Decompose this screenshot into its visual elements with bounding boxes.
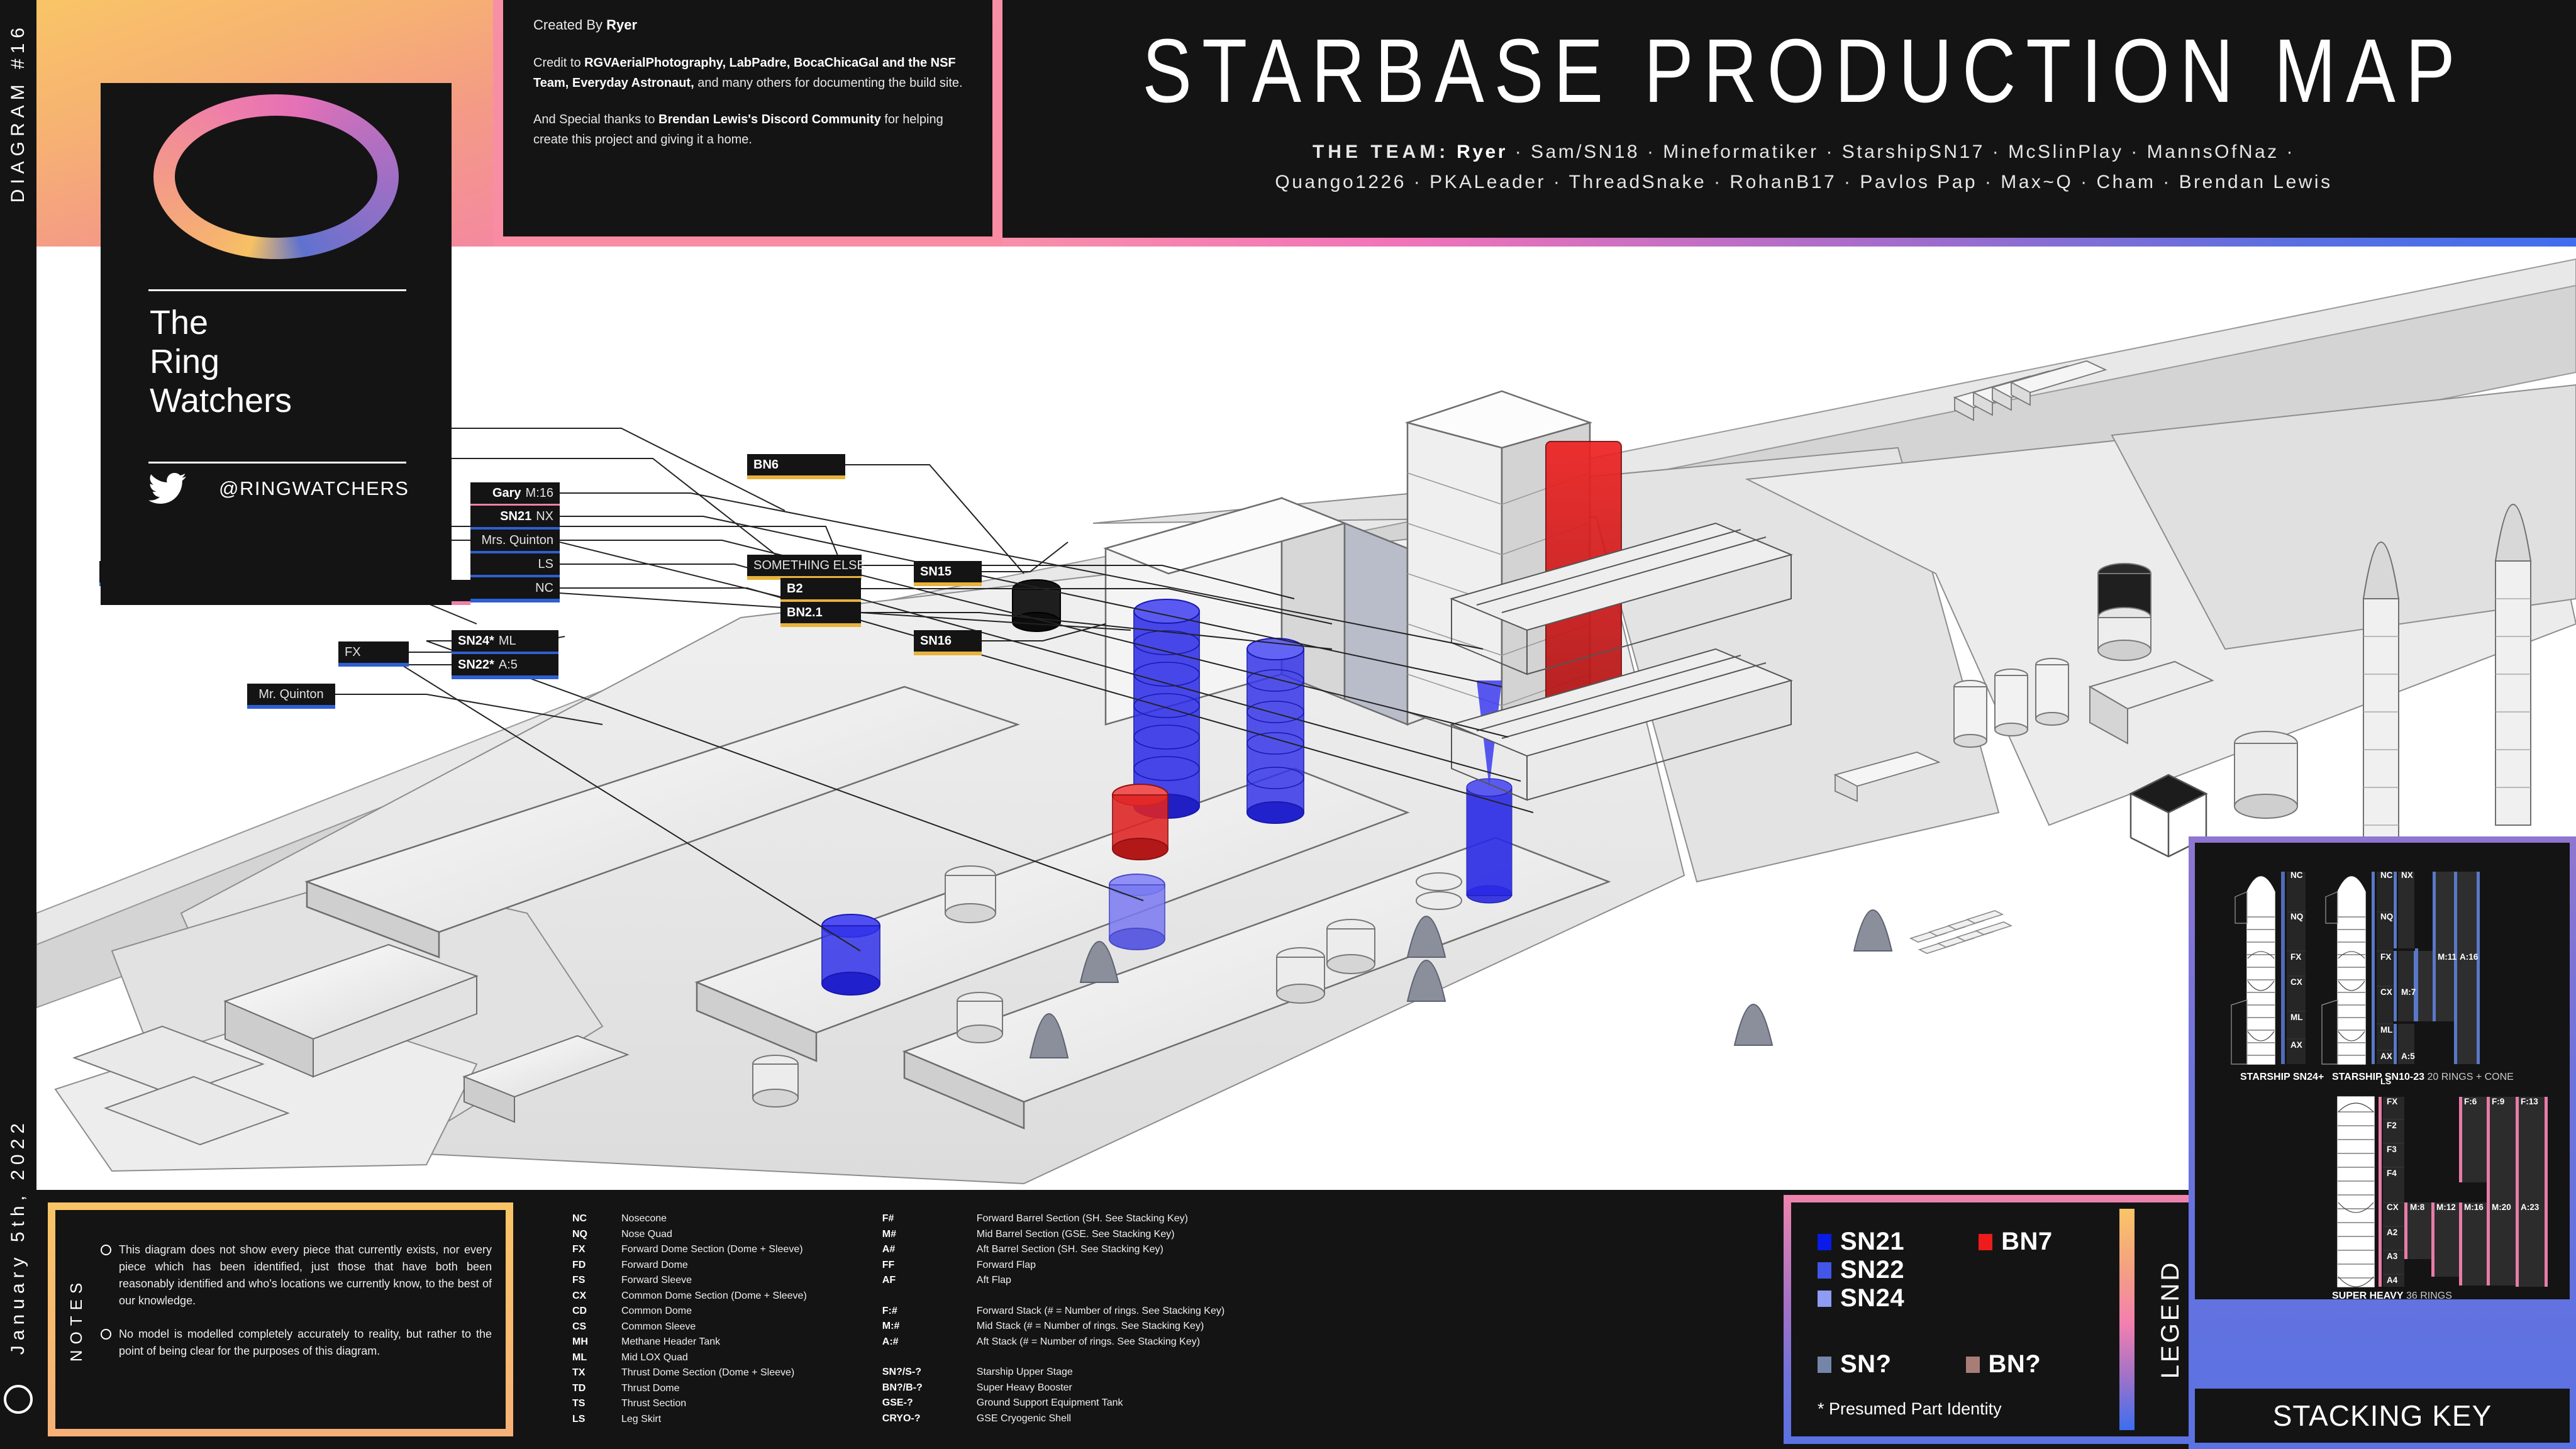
notes-heading: NOTES <box>67 1277 86 1362</box>
abbreviation-row: TXThrust Dome Section (Dome + Sleeve) <box>572 1365 807 1381</box>
abbreviation-key: TS <box>572 1396 621 1412</box>
sk-sh-stack-a23: A:23 <box>2521 1202 2539 1212</box>
abbreviation-value: Thrust Dome <box>621 1381 679 1397</box>
legend-color-swatch <box>1966 1357 1980 1373</box>
legend-outer-frame: SN21SN22SN24 BN7 SN? BN? * Presumed Part… <box>1784 1195 2210 1444</box>
map-callout-sn24-ml[interactable]: SN24*ML <box>452 630 558 652</box>
callout-detail: FX <box>345 646 361 658</box>
brand-name: The Ring Watchers <box>150 303 414 420</box>
abbreviation-key: CRYO-? <box>882 1411 977 1427</box>
sk-sh-seg-cx: CX <box>2387 1202 2399 1212</box>
callout-detail: LS <box>538 558 553 570</box>
legend-column-unknown-booster: BN? <box>1966 1350 2041 1379</box>
abbreviation-key: FD <box>572 1258 621 1274</box>
sk-sn1023-seg-nq: NQ <box>2380 912 2393 921</box>
abbreviation-value: Mid Barrel Section (GSE. See Stacking Ke… <box>977 1227 1175 1243</box>
credit-p2-a: And Special thanks to <box>533 113 658 126</box>
stacking-key-diagrams <box>2195 843 2570 1299</box>
brand-logo-card: The Ring Watchers @RINGWATCHERS <box>101 83 452 605</box>
sk-sh-seg-a4: A4 <box>2387 1275 2397 1285</box>
map-callout-something-else[interactable]: SOMETHING ELSE <box>747 555 862 576</box>
credit-p2-b: Brendan Lewis's Discord Community <box>658 113 881 126</box>
sk-sh-stack-m8: M:8 <box>2410 1202 2424 1212</box>
legend-heading: LEGEND <box>2157 1260 2185 1379</box>
team-credits: THE TEAM: Ryer · Sam/SN18 · Mineformatik… <box>1055 137 2552 197</box>
legend-column-boosters: BN7 <box>1979 1228 2053 1313</box>
legend-label: SN22 <box>1840 1256 1904 1284</box>
callout-detail: ML <box>499 635 516 647</box>
created-by-prefix: Created By <box>533 17 606 33</box>
abbreviation-value: Forward Dome <box>621 1258 688 1274</box>
abbreviation-row: GSE-?Ground Support Equipment Tank <box>882 1396 1224 1411</box>
legend-label: BN? <box>1989 1350 2041 1379</box>
callout-detail: Mrs. Quinton <box>482 534 553 547</box>
sk-sh-stack-m16: M:16 <box>2464 1202 2484 1212</box>
diagram-number-label: DIAGRAM #16 <box>8 23 29 203</box>
callout-detail: A:5 <box>499 658 518 671</box>
sk-sn1023-stack-a5: A:5 <box>2401 1052 2415 1061</box>
sk-caption-sn1023: STARSHIP SN10-23 20 RINGS + CONE <box>2332 1072 2514 1083</box>
note-text: This diagram does not show every piece t… <box>119 1241 492 1309</box>
map-callout-fx-lower[interactable]: FX <box>338 641 409 663</box>
brand-name-line3: Watchers <box>150 381 414 420</box>
sk-sn1023-seg-ax: AX <box>2380 1052 2392 1061</box>
map-callout-ls-right[interactable]: LS <box>470 553 560 575</box>
notes-panel: NOTES This diagram does not show every p… <box>48 1202 513 1436</box>
abbreviation-value: Thrust Section <box>621 1396 686 1412</box>
team-members-row1: · Sam/SN18 · Mineformatiker · StarshipSN… <box>1515 142 2295 162</box>
credit-p1-a: Credit to <box>533 56 584 70</box>
credit-paragraph-1: Credit to RGVAerialPhotography, LabPadre… <box>533 53 974 93</box>
abbreviation-row: A:#Aft Stack (# = Number of rings. See S… <box>882 1335 1224 1350</box>
abbreviation-value: Aft Barrel Section (SH. See Stacking Key… <box>977 1242 1163 1258</box>
callout-detail: SOMETHING ELSE <box>753 559 865 572</box>
abbreviation-row: FSForward Sleeve <box>572 1273 807 1289</box>
map-callout-bn21[interactable]: BN2.1 <box>780 602 861 623</box>
map-callout-bn6[interactable]: BN6 <box>747 454 845 475</box>
abbreviation-key: A:# <box>882 1335 977 1350</box>
abbreviation-key: LS <box>572 1412 621 1428</box>
abbreviation-value: Nose Quad <box>621 1227 672 1243</box>
legend-label: SN? <box>1840 1350 1892 1379</box>
legend-row: SN? <box>1818 1350 1892 1379</box>
sk-sn1023-stack-nx: NX <box>2401 870 2413 880</box>
callout-detail: NX <box>536 510 553 523</box>
abbreviation-key: TD <box>572 1381 621 1397</box>
abbreviation-key: BN?/B-? <box>882 1380 977 1396</box>
map-callout-sn16[interactable]: SN16 <box>914 630 982 652</box>
abbreviation-value: Common Dome Section (Dome + Sleeve) <box>621 1289 807 1304</box>
ring-circle-icon <box>4 1385 33 1414</box>
abbreviation-key: NQ <box>572 1227 621 1243</box>
abbreviation-group-spacer <box>882 1289 1224 1304</box>
abbreviation-row: NCNosecone <box>572 1211 807 1227</box>
sk-caption-superheavy: SUPER HEAVY 36 RINGS <box>2332 1291 2452 1302</box>
abbreviation-row: BN?/B-?Super Heavy Booster <box>882 1380 1224 1396</box>
credit-paragraph-2: And Special thanks to Brendan Lewis's Di… <box>533 109 974 150</box>
abbreviation-value: Forward Barrel Section (SH. See Stacking… <box>977 1211 1188 1227</box>
sk-sh-seg-a3: A3 <box>2387 1252 2397 1261</box>
callout-code: BN6 <box>753 458 779 471</box>
abbreviation-key: M:# <box>882 1319 977 1335</box>
legend-color-swatch <box>1818 1357 1831 1373</box>
callout-code: SN16 <box>920 635 952 647</box>
abbreviation-row: CSCommon Sleeve <box>572 1319 807 1335</box>
callout-code: SN21 <box>500 510 531 523</box>
abbreviation-value: Nosecone <box>621 1211 667 1227</box>
callout-code: SN15 <box>920 565 952 578</box>
abbreviation-row: FDForward Dome <box>572 1258 807 1274</box>
callout-detail: Mr. Quinton <box>258 688 323 701</box>
abbreviation-row: AFAft Flap <box>882 1273 1224 1289</box>
abbreviation-row: CDCommon Dome <box>572 1304 807 1319</box>
page-title: STARBASE PRODUCTION MAP <box>1068 25 2540 117</box>
note-item: No model is modelled completely accurate… <box>101 1326 492 1360</box>
map-callout-mrs-quinton[interactable]: Mrs. Quinton <box>470 530 560 551</box>
sk-sh-stack-f9: F:9 <box>2492 1097 2504 1106</box>
abbreviation-row: NQNose Quad <box>572 1227 807 1243</box>
sk-sn24-seg-nc: NC <box>2290 870 2303 880</box>
callout-code: SN24* <box>458 635 494 647</box>
abbreviation-value: Common Sleeve <box>621 1319 696 1335</box>
sk-sh-seg-f4: F4 <box>2387 1169 2397 1178</box>
logo-divider-top <box>148 289 406 291</box>
stacking-key-frame: NC NQ FX CX ML AX NC NQ FX CX ML AX LS N… <box>2189 836 2576 1449</box>
sk-sn1023-seg-ml: ML <box>2380 1025 2393 1035</box>
abbreviation-value: Aft Flap <box>977 1273 1011 1289</box>
credit-p1-c: and many others for documenting the buil… <box>694 76 963 90</box>
abbreviation-row: M#Mid Barrel Section (GSE. See Stacking … <box>882 1227 1224 1243</box>
abbreviation-row: TSThrust Section <box>572 1396 807 1412</box>
abbreviation-key: FS <box>572 1273 621 1289</box>
legend-color-swatch <box>1818 1291 1831 1307</box>
sk-sn24-seg-ax: AX <box>2290 1040 2302 1050</box>
poster-root: DIAGRAM #16 January 5th, 2022 Created By… <box>0 0 2576 1449</box>
sk-sh-stack-f6: F:6 <box>2464 1097 2477 1106</box>
abbreviation-row: LSLeg Skirt <box>572 1412 807 1428</box>
abbreviation-row: MLMid LOX Quad <box>572 1350 807 1366</box>
legend-row: SN21 <box>1818 1228 1904 1256</box>
left-rail: DIAGRAM #16 January 5th, 2022 <box>0 0 36 1449</box>
map-callout-b2[interactable]: B2 <box>780 578 861 599</box>
twitter-handle[interactable]: @RINGWATCHERS <box>219 477 409 500</box>
abbreviation-value: Ground Support Equipment Tank <box>977 1396 1123 1411</box>
abbreviation-key: TX <box>572 1365 621 1381</box>
callout-code: B2 <box>787 582 803 595</box>
sk-sh-seg-a2: A2 <box>2387 1228 2397 1237</box>
legend-gradient-band <box>2119 1209 2135 1430</box>
abbreviation-value: GSE Cryogenic Shell <box>977 1411 1071 1427</box>
abbreviation-value: Forward Sleeve <box>621 1273 692 1289</box>
legend-swatch-grid: SN21SN22SN24 BN7 SN? BN? <box>1818 1228 2053 1379</box>
sk-sn24-seg-cx: CX <box>2290 977 2302 987</box>
note-text: No model is modelled completely accurate… <box>119 1326 492 1360</box>
sk-sh-stack-m12: M:12 <box>2436 1202 2456 1212</box>
legend-footnote: * Presumed Part Identity <box>1818 1399 2002 1419</box>
abbreviation-row: CXCommon Dome Section (Dome + Sleeve) <box>572 1289 807 1304</box>
map-callout-gary-m16[interactable]: GaryM:16 <box>470 482 560 504</box>
stacking-key-title-box: STACKING KEY <box>2195 1389 2570 1443</box>
legend-color-swatch <box>1818 1234 1831 1250</box>
team-line-1: THE TEAM: Ryer · Sam/SN18 · Mineformatik… <box>1055 137 2552 167</box>
abbreviation-key: CD <box>572 1304 621 1319</box>
abbreviation-column-2: F#Forward Barrel Section (SH. See Stacki… <box>807 1211 1224 1427</box>
abbreviation-key: NC <box>572 1211 621 1227</box>
sk-sn24-seg-fx: FX <box>2290 952 2301 962</box>
abbreviation-row: F:#Forward Stack (# = Number of rings. S… <box>882 1304 1224 1319</box>
sk-sn1023-stack-m11: M:11 <box>2438 952 2457 962</box>
sk-caption-sub: 36 RINGS <box>2404 1291 2452 1301</box>
team-members-row2: Quango1226 · PKALeader · ThreadSnake · R… <box>1055 167 2552 197</box>
sk-sn1023-stack-m7: M:7 <box>2401 987 2416 997</box>
abbreviation-value: Mid LOX Quad <box>621 1350 688 1366</box>
abbreviation-value: Forward Dome Section (Dome + Sleeve) <box>621 1242 803 1258</box>
map-callout-mr-quinton[interactable]: Mr. Quinton <box>247 684 335 705</box>
legend-label: SN21 <box>1840 1228 1904 1256</box>
abbreviation-row: MHMethane Header Tank <box>572 1335 807 1350</box>
map-callout-nc-right[interactable]: NC <box>470 577 560 599</box>
sk-caption-sn24: STARSHIP SN24+ <box>2240 1072 2324 1083</box>
legend-row: BN7 <box>1979 1228 2053 1256</box>
legend-column-starships: SN21SN22SN24 <box>1818 1228 1904 1313</box>
created-by-line: Created By Ryer <box>533 14 974 36</box>
abbreviation-value: Super Heavy Booster <box>977 1380 1072 1396</box>
legend-label: BN7 <box>2001 1228 2053 1256</box>
callout-code: Gary <box>492 487 521 499</box>
abbreviation-key: AF <box>882 1273 977 1289</box>
team-lead-name: Ryer <box>1457 142 1507 162</box>
legend-row: BN? <box>1966 1350 2041 1379</box>
abbreviation-key: ML <box>572 1350 621 1366</box>
team-label: THE TEAM: <box>1313 142 1449 162</box>
abbreviation-key: GSE-? <box>882 1396 977 1411</box>
sk-sh-seg-f2: F2 <box>2387 1121 2397 1130</box>
twitter-row[interactable]: @RINGWATCHERS <box>148 473 409 504</box>
abbreviation-value: Forward Stack (# = Number of rings. See … <box>977 1304 1224 1319</box>
abbreviation-key: MH <box>572 1335 621 1350</box>
abbreviation-row: F#Forward Barrel Section (SH. See Stacki… <box>882 1211 1224 1227</box>
abbreviation-key: CX <box>572 1289 621 1304</box>
abbreviation-row: M:#Mid Stack (# = Number of rings. See S… <box>882 1319 1224 1335</box>
abbreviation-row: CRYO-?GSE Cryogenic Shell <box>882 1411 1224 1427</box>
sk-sn1023-seg-cx: CX <box>2380 987 2392 997</box>
abbreviation-value: Common Dome <box>621 1304 692 1319</box>
abbreviation-group-spacer <box>882 1350 1224 1365</box>
abbreviation-key: A# <box>882 1242 977 1258</box>
brand-name-line2: Ring <box>150 342 414 381</box>
callout-detail: NC <box>535 582 553 594</box>
abbreviation-value: Methane Header Tank <box>621 1335 720 1350</box>
abbreviation-key: FX <box>572 1242 621 1258</box>
stacking-key-panel: NC NQ FX CX ML AX NC NQ FX CX ML AX LS N… <box>2195 843 2570 1299</box>
abbreviation-row: FXForward Dome Section (Dome + Sleeve) <box>572 1242 807 1258</box>
note-item: This diagram does not show every piece t… <box>101 1241 492 1309</box>
abbreviation-key-panel: NCNoseconeNQNose QuadFXForward Dome Sect… <box>533 1202 1779 1436</box>
legend-label: SN24 <box>1840 1284 1904 1313</box>
abbreviation-key: M# <box>882 1227 977 1243</box>
abbreviation-value: Mid Stack (# = Number of rings. See Stac… <box>977 1319 1204 1335</box>
abbreviation-value: Leg Skirt <box>621 1412 661 1428</box>
logo-divider-bottom <box>148 462 406 464</box>
abbreviation-value: Starship Upper Stage <box>977 1365 1073 1380</box>
twitter-bird-icon <box>148 473 186 504</box>
sk-sn24-seg-nq: NQ <box>2290 912 2303 921</box>
sk-caption-sub: 20 RINGS + CONE <box>2424 1072 2514 1082</box>
map-callout-sn15[interactable]: SN15 <box>914 561 982 582</box>
abbreviation-key: CS <box>572 1319 621 1335</box>
credits-text-block: Created By Ryer Credit to RGVAerialPhoto… <box>533 14 974 166</box>
callout-code: SN22* <box>458 658 494 671</box>
abbreviation-value: Thrust Dome Section (Dome + Sleeve) <box>621 1365 794 1381</box>
abbreviation-column-1: NCNoseconeNQNose QuadFXForward Dome Sect… <box>533 1211 807 1427</box>
brand-name-line1: The <box>150 303 414 342</box>
note-bullet-icon <box>101 1329 111 1340</box>
legend-color-swatch <box>1979 1234 1992 1250</box>
stacking-key-title: STACKING KEY <box>2273 1399 2492 1433</box>
legend-panel: SN21SN22SN24 BN7 SN? BN? * Presumed Part… <box>1791 1202 2202 1436</box>
legend-column-unknown-ship: SN? <box>1818 1350 1892 1379</box>
notes-list: This diagram does not show every piece t… <box>101 1241 492 1376</box>
abbreviation-value: Forward Flap <box>977 1258 1036 1274</box>
map-callout-sn21-nx[interactable]: SN21NX <box>470 506 560 527</box>
abbreviation-row: FFForward Flap <box>882 1258 1224 1274</box>
created-by-name: Ryer <box>606 17 637 33</box>
abbreviation-key: SN?/S-? <box>882 1365 977 1380</box>
legend-row: SN22 <box>1818 1256 1904 1284</box>
abbreviation-key: FF <box>882 1258 977 1274</box>
sk-sh-stack-f13: F:13 <box>2521 1097 2538 1106</box>
callout-detail: M:16 <box>526 487 553 499</box>
legend-row: SN24 <box>1818 1284 1904 1313</box>
abbreviation-row: A#Aft Barrel Section (SH. See Stacking K… <box>882 1242 1224 1258</box>
sk-sh-seg-fx: FX <box>2387 1097 2397 1106</box>
note-bullet-icon <box>101 1245 111 1255</box>
abbreviation-row: SN?/S-?Starship Upper Stage <box>882 1365 1224 1380</box>
gradient-ring-logo-icon <box>153 94 399 259</box>
sk-sh-seg-f3: F3 <box>2387 1145 2397 1154</box>
sk-sn24-seg-ml: ML <box>2290 1013 2303 1022</box>
date-label: January 5th, 2022 <box>8 1118 29 1355</box>
abbreviation-key: F:# <box>882 1304 977 1319</box>
abbreviation-value: Aft Stack (# = Number of rings. See Stac… <box>977 1335 1200 1350</box>
sk-sn1023-stack-a16: A:16 <box>2460 952 2478 962</box>
legend-color-swatch <box>1818 1262 1831 1279</box>
sk-sn1023-seg-nc: NC <box>2380 870 2393 880</box>
abbreviation-row: TDThrust Dome <box>572 1381 807 1397</box>
abbreviation-key: F# <box>882 1211 977 1227</box>
sk-sn1023-seg-fx: FX <box>2380 952 2391 962</box>
callout-code: BN2.1 <box>787 606 823 619</box>
sk-sh-stack-m20: M:20 <box>2492 1202 2511 1212</box>
map-callout-sn22-a5[interactable]: SN22*A:5 <box>452 654 558 675</box>
